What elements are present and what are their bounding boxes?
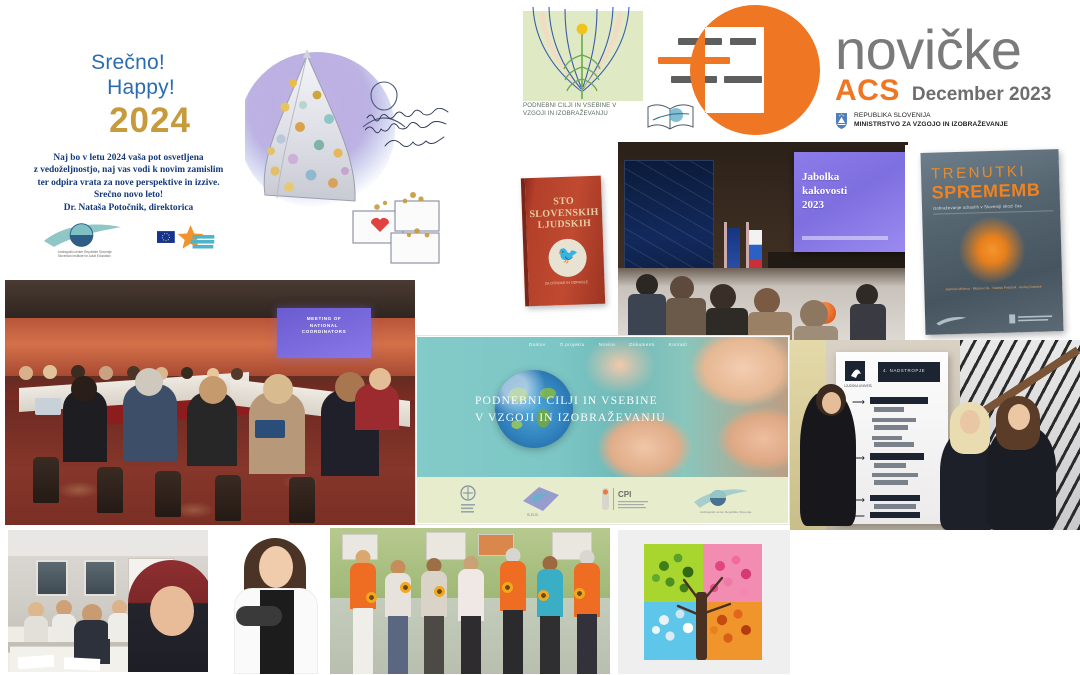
book-subtitle: ZA OTROKE IN ODRASLE (528, 280, 604, 288)
brand-acs-label: ACS (835, 74, 900, 108)
ministry-credit: REPUBLIKA SLOVENIJA MINISTRSTVO ZA VZGOJ… (835, 112, 1080, 129)
photo-tile-book: STO SLOVENSKIH LJUDSKIH 🐦 ZA OTROKE IN O… (505, 140, 620, 340)
photo-tile-climate-website: Domov O projektu Novice Dokumenti Kontak… (415, 335, 790, 525)
greeting-message: Naj bo v letu 2024 vaša pot osvetljena z… (6, 152, 251, 214)
sunflower-icon (366, 592, 377, 603)
eu-funding-logo-icon (157, 223, 218, 255)
attendee-head (369, 368, 391, 390)
ministry-line-2: MINISTRSTVO ZA VZGOJO IN IZOBRAŽEVANJE (854, 121, 1008, 130)
nav-item-0[interactable]: Domov (529, 342, 546, 347)
climate-caption-line-1: PODNEBNI CILJI IN VSEBINE V (523, 102, 651, 110)
poster-authors: Jasmina Mirčeva · Mirjana Ule · Nataša P… (934, 284, 1052, 292)
meeting-projection-screen: MEETING OF NATIONAL COORDINATORS (277, 308, 371, 358)
projection-line-3: COORDINATORS (277, 329, 371, 336)
greeting-message-line-3: ter odpira vrata za nove perspektive in … (6, 177, 251, 189)
painted-foliage (644, 544, 762, 660)
book-cover: STO SLOVENSKIH LJUDSKIH 🐦 ZA OTROKE IN O… (521, 176, 605, 307)
projection-line-1: MEETING OF (277, 316, 371, 323)
book-title-line-3: LJUDSKIH (526, 218, 602, 232)
group-person (570, 550, 604, 674)
sunflower-icon (434, 586, 445, 597)
greeting-srecno: Srečno! (91, 51, 165, 74)
nav-item-2[interactable]: Novice (599, 342, 615, 347)
signboard-floor-label: 4. NADSTROPJE (883, 368, 925, 373)
new-year-greeting-card: Srečno! Happy! 2024 Naj bo v letu 2024 v… (0, 30, 450, 280)
ministry-text: REPUBLIKA SLOVENIJA MINISTRSTVO ZA VZGOJ… (854, 112, 1008, 129)
group-person (418, 558, 450, 674)
portrait-rolled-poster (236, 606, 282, 626)
screen-line-1: Jabolka (802, 170, 847, 184)
website-nav: Domov O projektu Novice Dokumenti Kontak… (529, 342, 687, 347)
svg-text:CPI: CPI (618, 490, 631, 499)
photo-tile-signboard: LJUDSKA UNIVERZA 4. NADSTROPJE ⟶ ⟶ ⟶ ⟵ (790, 340, 1080, 530)
greeting-message-line-2: z vedoželjnostjo, naj vas vodi k novim z… (6, 164, 251, 176)
group-person (454, 556, 488, 674)
institution-logo-icon: LJUDSKA UNIVERZA (844, 360, 872, 390)
projection-screen-text: MEETING OF NATIONAL COORDINATORS (277, 316, 371, 336)
climate-logo-caption: PODNEBNI CILJI IN VSEBINE V VZGOJI IN IZ… (523, 102, 651, 118)
greeting-happy: Happy! (44, 75, 238, 100)
book-cover-medallion: 🐦 (548, 238, 587, 277)
climate-goals-logo: PODNEBNI CILJI IN VSEBINE V VZGOJI IN IZ… (523, 3, 678, 133)
publication-poster: TRENUTKI SPREMEMB izobraževanje odraslih… (920, 149, 1063, 335)
poster-subtitle: izobraževanje odraslih v Sloveniji skozi… (933, 202, 1053, 214)
sunflower-icon (538, 590, 549, 601)
foreground-person-face (150, 586, 194, 636)
nav-item-3[interactable]: Dokumenti (629, 342, 655, 347)
attendee-head (263, 374, 293, 404)
classroom-window (36, 560, 68, 596)
laptop (255, 420, 285, 438)
bird-illustration-icon: 🐦 (557, 245, 579, 266)
attendee-head (71, 376, 97, 402)
photo-tile-four-seasons-painting (618, 530, 790, 674)
nav-item-1[interactable]: O projektu (560, 342, 585, 347)
wheat-plant-icon (519, 3, 659, 103)
greeting-card-logos: Andragoški center Republike Slovenije Sl… (38, 218, 218, 260)
group-person (534, 556, 566, 674)
partner-logo-acs-icon: Andragoški center Republike Slovenije (690, 484, 752, 516)
acs-logo-small-icon (935, 315, 967, 328)
attendee-head (199, 376, 227, 404)
poster-title-main: SPREMEMB (931, 180, 1040, 204)
svg-text:Andragoški center Republike Sl: Andragoški center Republike Slovenije (700, 510, 752, 514)
ministry-line-1: REPUBLIKA SLOVENIJA (854, 112, 1008, 121)
photo-tile-publication-poster: TRENUTKI SPREMEMB izobraževanje odraslih… (905, 145, 1080, 340)
book-cover-title: STO SLOVENSKIH LJUDSKIH (525, 195, 602, 232)
presentation-screen: Jabolka kakovosti 2023 (794, 152, 908, 252)
handout-paper (18, 655, 55, 669)
slovenia-coat-of-arms-icon (835, 112, 848, 129)
greeting-message-line-1: Naj bo v letu 2024 vaša pot osvetljena (6, 152, 251, 164)
attendee-head (135, 368, 163, 396)
greeting-signature: Dr. Nataša Potočnik, direktorica (6, 202, 251, 214)
poster-logos (935, 312, 1053, 327)
screen-text: Jabolka kakovosti 2023 (802, 170, 847, 212)
poster-dot-sphere-graphic (958, 216, 1026, 284)
climate-caption-line-2: VZGOJI IN IZOBRAŽEVANJU (523, 110, 651, 118)
classroom-ceiling (8, 530, 208, 556)
brand-title: novičke (835, 22, 1080, 78)
greeting-text-block: Srečno! Happy! 2024 Naj bo v letu 2024 v… (18, 50, 238, 214)
website-screenshot: Domov O projektu Novice Dokumenti Kontak… (415, 335, 790, 525)
handwritten-note-illustration (365, 108, 460, 158)
photo-tile-national-coordinators-meeting: MEETING OF NATIONAL COORDINATORS (5, 280, 415, 525)
screen-line-2: kakovosti (802, 184, 847, 198)
issue-date: December 2023 (912, 84, 1051, 106)
nav-item-4[interactable]: Kontakt (669, 342, 687, 347)
handout-paper (64, 657, 101, 671)
portrait-face (259, 546, 293, 588)
partner-logo-cpi-icon: CPI (600, 484, 654, 516)
screen-line-3: 2023 (802, 198, 847, 212)
partner-logo-2-icon: S.O.S. (519, 483, 563, 517)
greeting-message-line-4: Srečno novo leto! (6, 189, 251, 201)
person-right-face (1008, 404, 1030, 430)
photo-tile-classroom (8, 530, 208, 672)
svg-text:LJUDSKA UNIVERZA: LJUDSKA UNIVERZA (844, 384, 872, 388)
sunflower-icon (502, 582, 513, 593)
screen-footer-bar (802, 236, 888, 240)
four-seasons-canvas (644, 544, 762, 660)
photo-tile-award-ceremony: Jabolka kakovosti 2023 (618, 142, 908, 340)
hero-title-line-2: V VZGOJI IN IZOBRAŽEVANJU (475, 409, 666, 426)
classroom-window (84, 560, 116, 596)
person-middle-face (960, 410, 980, 434)
greeting-year: 2024 (62, 101, 238, 141)
attendee-red-sweater (355, 384, 399, 430)
sunflower-icon (400, 582, 411, 593)
hero-title-line-1: PODNEBNI CILJI IN VSEBINE (475, 392, 666, 409)
partner-logo-1-icon (453, 484, 483, 516)
website-hero-banner: Domov O projektu Novice Dokumenti Kontak… (417, 337, 788, 479)
website-partner-logos: S.O.S. CPI Andragoški center Republike S… (417, 477, 788, 523)
website-hero-title: PODNEBNI CILJI IN VSEBINE V VZGOJI IN IZ… (475, 392, 666, 426)
laptop (35, 398, 61, 415)
acs-orange-mark-icon (690, 5, 820, 135)
ministry-logo-small-icon (1009, 312, 1053, 325)
greeting-salutation: Srečno! Happy! (18, 50, 238, 100)
photo-tile-group-with-sunflowers (330, 528, 610, 674)
newsletter-banner: Srečno! Happy! 2024 Naj bo v letu 2024 v… (0, 0, 1080, 675)
signboard-floor-header: 4. NADSTROPJE (878, 362, 940, 382)
brand-block: novičke ACS December 2023 REPUBLIKA SLOV… (835, 22, 1080, 132)
svg-text:S.O.S.: S.O.S. (527, 512, 539, 517)
photo-tile-portrait (212, 528, 330, 674)
group-person (382, 560, 414, 674)
sunflower-icon (574, 588, 585, 599)
projection-line-2: NATIONAL (277, 323, 371, 330)
group-person (346, 550, 380, 674)
portrait-black-top (260, 590, 294, 674)
svg-text:Slovenian Institute for Adult: Slovenian Institute for Adult Education (58, 254, 111, 258)
person-left-face (822, 392, 841, 414)
acs-swoosh-logo-icon: Andragoški center Republike Slovenije Sl… (38, 219, 141, 259)
arrow-right-icon: ⟶ (852, 398, 865, 407)
masthead: PODNEBNI CILJI IN VSEBINE V VZGOJI IN IZ… (505, 0, 1080, 145)
group-person (496, 548, 530, 674)
